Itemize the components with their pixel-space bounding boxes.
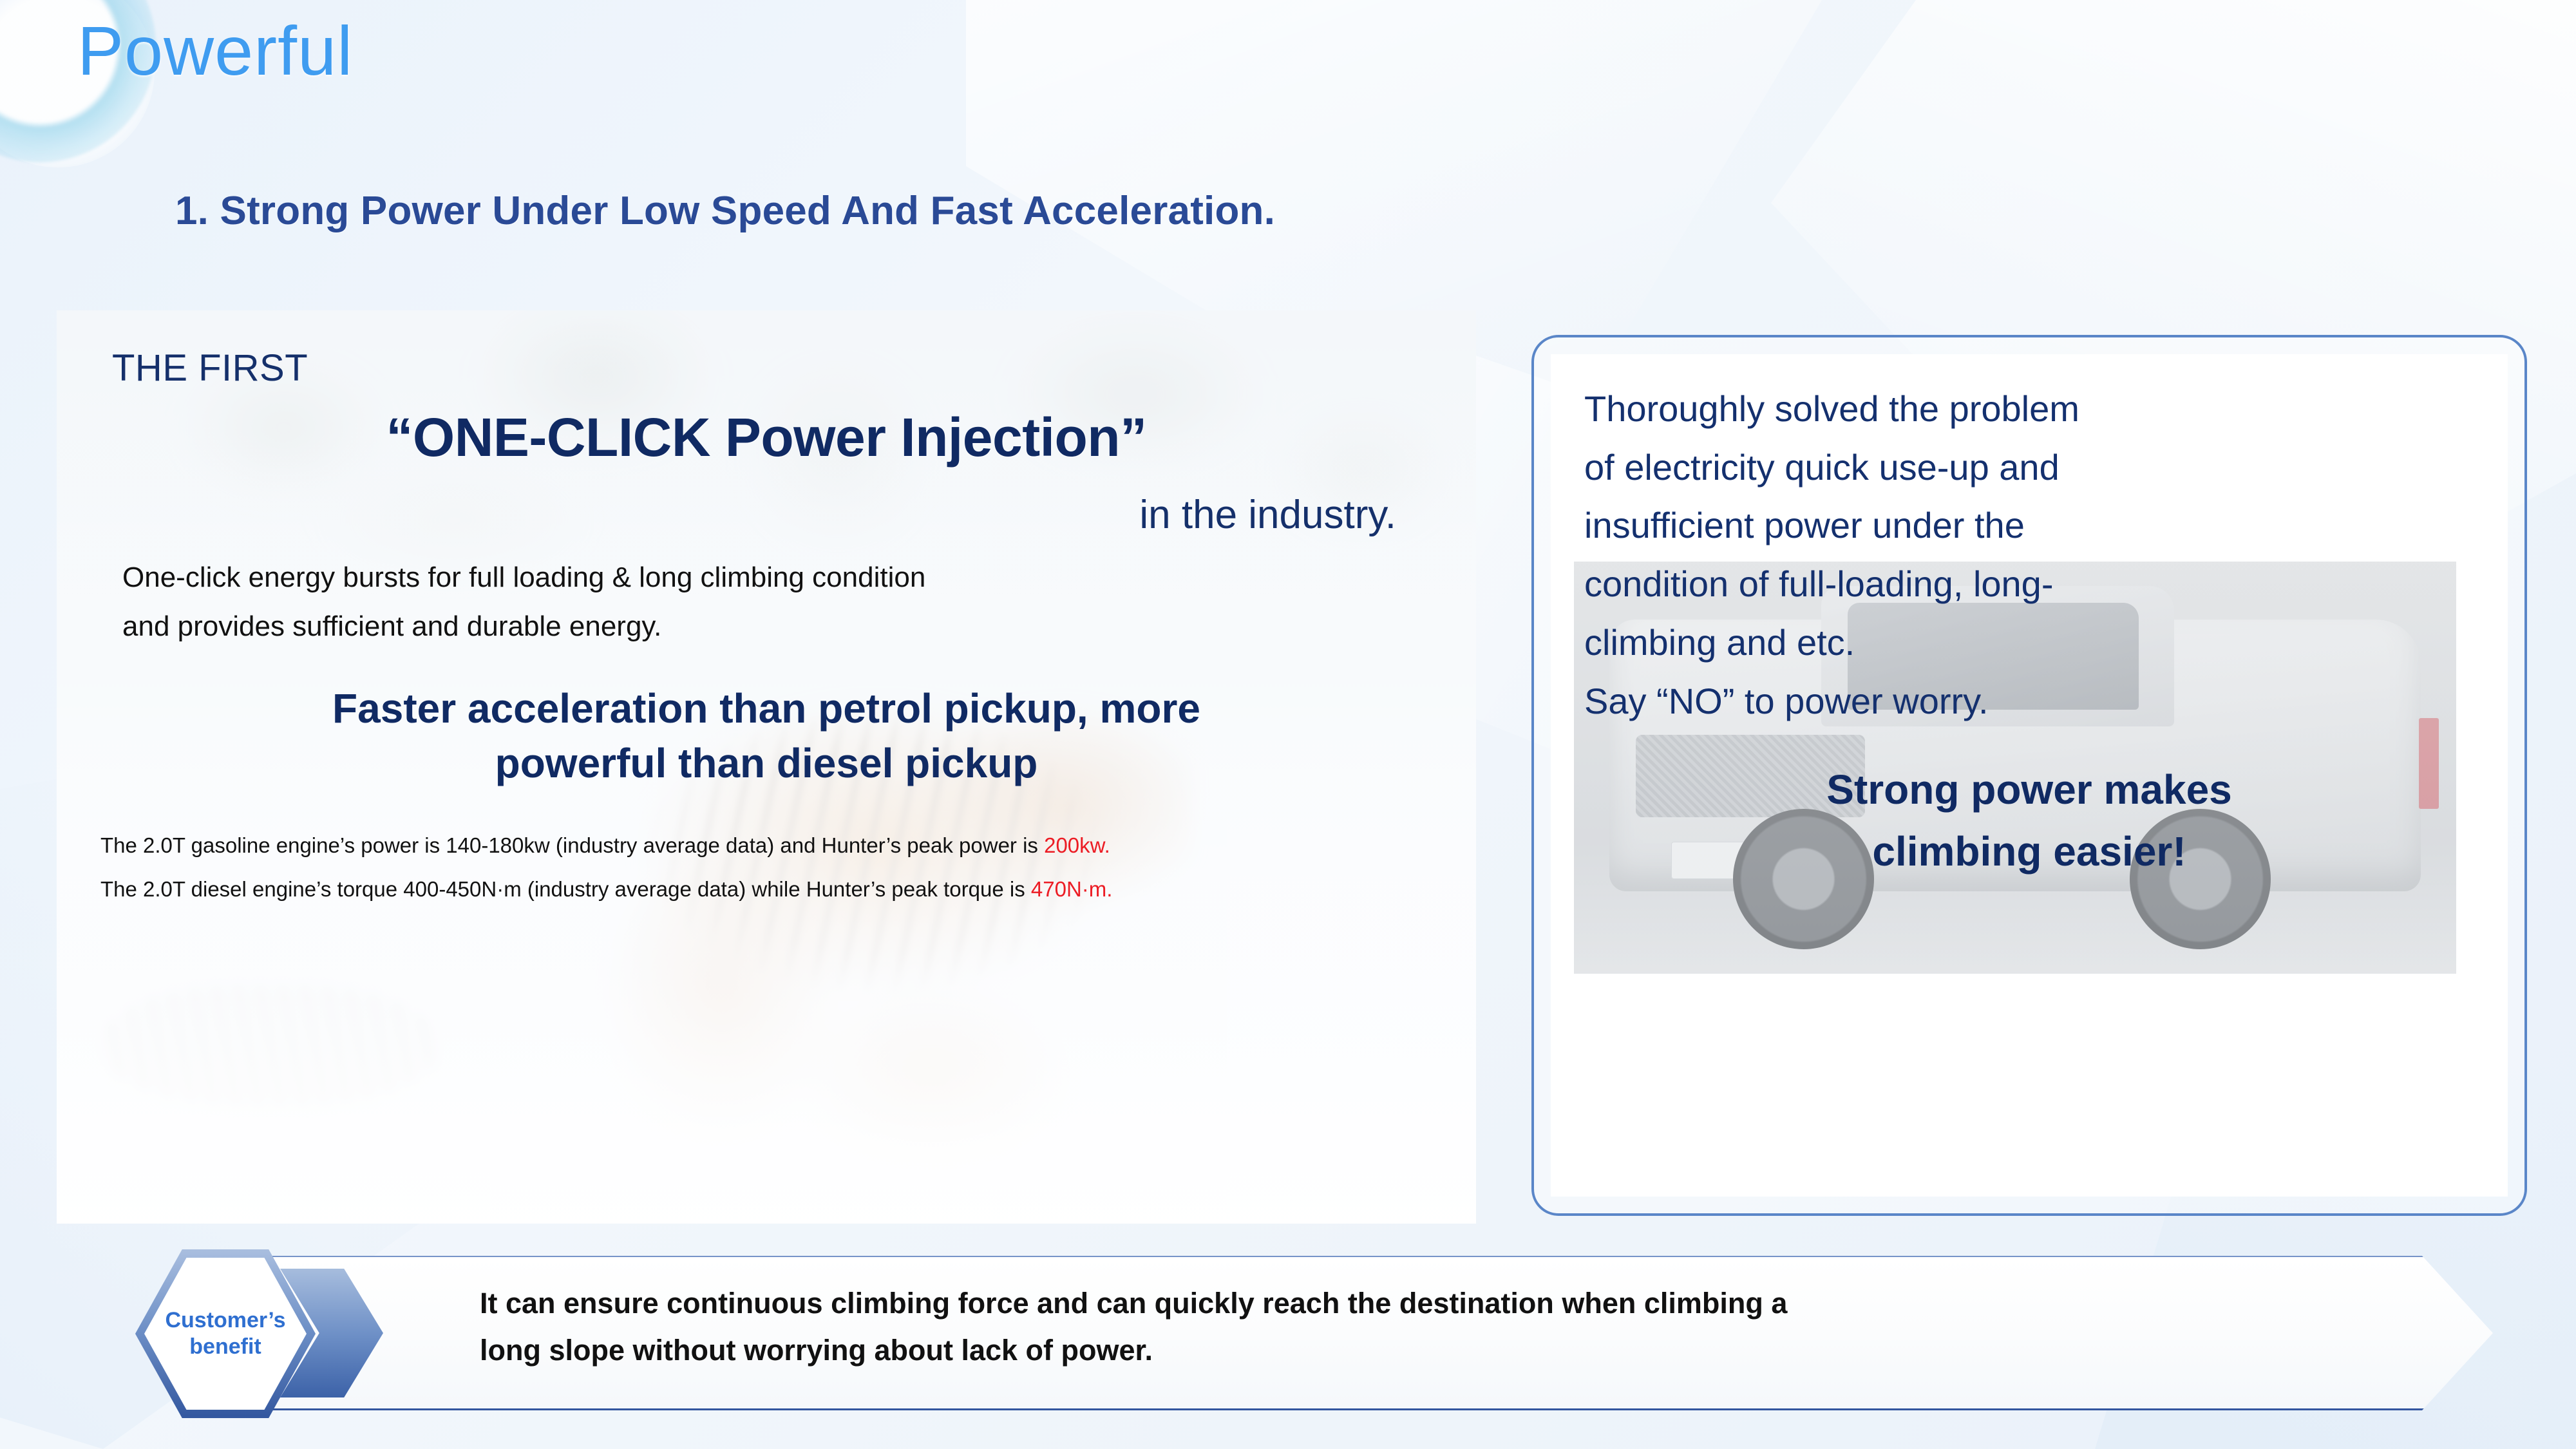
left-emphasis-line-1: Faster acceleration than petrol pickup, …: [103, 681, 1430, 735]
right-paragraph-line-3: insufficient power under the: [1584, 497, 2474, 555]
spec-diesel: The 2.0T diesel engine’s torque 400-450N…: [100, 867, 1441, 911]
benefit-badge-line-2: benefit: [189, 1334, 261, 1359]
page-title: Powerful: [77, 13, 353, 90]
left-emphasis: Faster acceleration than petrol pickup, …: [91, 681, 1441, 790]
customer-benefit-banner: Customer’s benefit It can ensure continu…: [109, 1249, 2492, 1420]
left-content-panel: THE FIRST “ONE-CLICK Power Injection” in…: [57, 310, 1476, 1224]
right-content-panel: Thoroughly solved the problem of electri…: [1531, 335, 2527, 1216]
left-description: One-click energy bursts for full loading…: [91, 553, 1441, 650]
spec-diesel-text: The 2.0T diesel engine’s torque 400-450N…: [100, 877, 1031, 901]
right-panel-inner: Thoroughly solved the problem of electri…: [1551, 354, 2508, 1197]
banner-text-line-2: long slope without worrying about lack o…: [480, 1327, 2399, 1374]
right-paragraph-line-6: Say “NO” to power worry.: [1584, 672, 2474, 731]
right-emphasis-line-2: climbing easier!: [1584, 820, 2474, 882]
left-description-line-1: One-click energy bursts for full loading…: [122, 553, 1441, 602]
banner-text-line-1: It can ensure continuous climbing force …: [480, 1280, 2399, 1327]
right-panel-text: Thoroughly solved the problem of electri…: [1551, 354, 2508, 1197]
benefit-badge-line-1: Customer’s: [165, 1308, 285, 1333]
spec-gasoline-text: The 2.0T gasoline engine’s power is 140-…: [100, 833, 1044, 857]
left-headline: “ONE-CLICK Power Injection”: [91, 406, 1441, 469]
left-panel-content: THE FIRST “ONE-CLICK Power Injection” in…: [57, 310, 1476, 1224]
right-emphasis-line-1: Strong power makes: [1584, 759, 2474, 820]
spec-notes: The 2.0T gasoline engine’s power is 140-…: [91, 824, 1441, 911]
spec-gasoline: The 2.0T gasoline engine’s power is 140-…: [100, 824, 1441, 867]
spec-diesel-value: 470N·m.: [1031, 877, 1113, 901]
left-emphasis-line-2: powerful than diesel pickup: [103, 736, 1430, 790]
right-paragraph-line-1: Thoroughly solved the problem: [1584, 380, 2474, 439]
right-emphasis: Strong power makes climbing easier!: [1584, 759, 2474, 882]
benefit-badge-inner: Customer’s benefit: [144, 1258, 307, 1410]
right-paragraph-line-4: condition of full-loading, long-: [1584, 555, 2474, 614]
banner-text: It can ensure continuous climbing force …: [480, 1280, 2399, 1374]
spec-gasoline-value: 200kw.: [1044, 833, 1110, 857]
page-subtitle: 1. Strong Power Under Low Speed And Fast…: [175, 188, 1275, 234]
left-description-line-2: and provides sufficient and durable ener…: [122, 602, 1441, 651]
right-paragraph-line-5: climbing and etc.: [1584, 614, 2474, 672]
left-headline-suffix: in the industry.: [91, 492, 1441, 538]
right-paragraph-line-2: of electricity quick use-up and: [1584, 439, 2474, 497]
eyebrow-label: THE FIRST: [112, 346, 1441, 390]
